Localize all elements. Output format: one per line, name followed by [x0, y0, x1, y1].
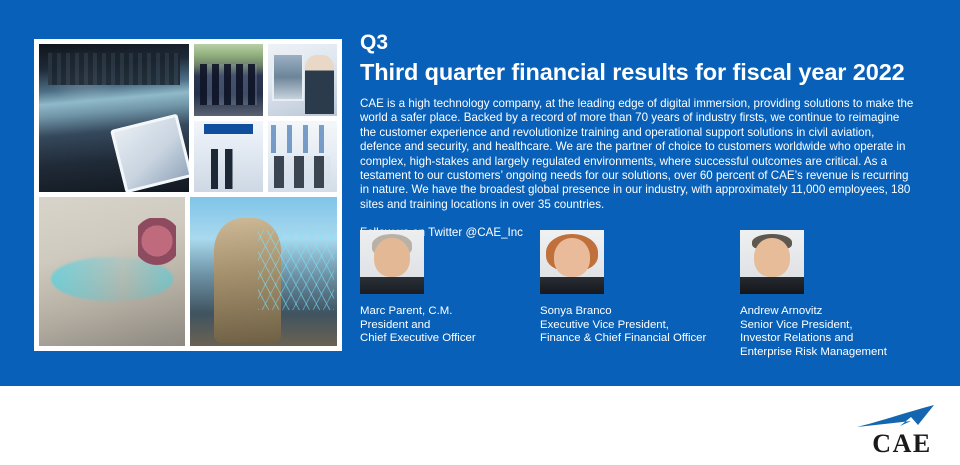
cae-logo: CAE: [856, 404, 948, 456]
cadet-training-outdoors-photo: [194, 44, 263, 116]
executive-name: Andrew Arnovitz: [740, 305, 887, 319]
executive-name: Sonya Branco: [540, 305, 706, 319]
executive-title-line-2: Finance & Chief Financial Officer: [540, 332, 706, 346]
executive-card-sonya-branco: Sonya Branco Executive Vice President, F…: [540, 230, 706, 346]
collage-right-column-top: [194, 44, 337, 192]
collage-row-top: [39, 44, 337, 192]
cae-swoosh-icon: CAE: [856, 404, 948, 456]
flight-simulator-cockpit-photo: [39, 44, 189, 192]
executive-card-marc-parent: Marc Parent, C.M. President and Chief Ex…: [360, 230, 476, 346]
defence-soldier-simulation-photo: [190, 197, 337, 346]
training-centre-hall-photo: [194, 121, 263, 193]
classroom-seated-group-photo: [268, 121, 337, 193]
photo-collage: [34, 39, 342, 351]
sonya-branco-headshot: [540, 230, 604, 294]
headshot-face-shape: [754, 238, 790, 278]
marc-parent-headshot: [360, 230, 424, 294]
executive-title-line-2: Chief Executive Officer: [360, 332, 476, 346]
headshot-face-shape: [554, 238, 590, 278]
andrew-arnovitz-headshot: [740, 230, 804, 294]
collage-quad-row-2: [194, 121, 337, 193]
content-column: Q3 Third quarter financial results for f…: [360, 30, 894, 240]
collage-quad-row-1: [194, 44, 337, 116]
executive-title-line-1: Executive Vice President,: [540, 319, 706, 333]
executive-title-line-1: President and: [360, 319, 476, 333]
white-footer-band: [0, 386, 960, 465]
headshot-suit-shape: [740, 277, 804, 294]
headshot-suit-shape: [360, 277, 424, 294]
quarter-eyebrow: Q3: [360, 30, 894, 55]
executive-title-line-1: Senior Vice President,: [740, 319, 887, 333]
presentation-slide: Q3 Third quarter financial results for f…: [0, 0, 960, 465]
page-title: Third quarter financial results for fisc…: [360, 57, 894, 87]
collage-row-bottom: [39, 197, 337, 346]
healthcare-simulation-photo: [39, 197, 185, 346]
executive-name: Marc Parent, C.M.: [360, 305, 476, 319]
headshot-face-shape: [374, 238, 410, 278]
swoosh-shape: [857, 405, 934, 427]
company-description-paragraph: CAE is a high technology company, at the…: [360, 97, 918, 212]
headshot-suit-shape: [540, 277, 604, 294]
executive-title-line-3: Enterprise Risk Management: [740, 346, 887, 360]
executive-card-andrew-arnovitz: Andrew Arnovitz Senior Vice President, I…: [740, 230, 887, 359]
presenter-video-wall-photo: [268, 44, 337, 116]
executives-row: Marc Parent, C.M. President and Chief Ex…: [360, 230, 920, 355]
executive-title-line-2: Investor Relations and: [740, 332, 887, 346]
cae-wordmark: CAE: [872, 429, 931, 456]
